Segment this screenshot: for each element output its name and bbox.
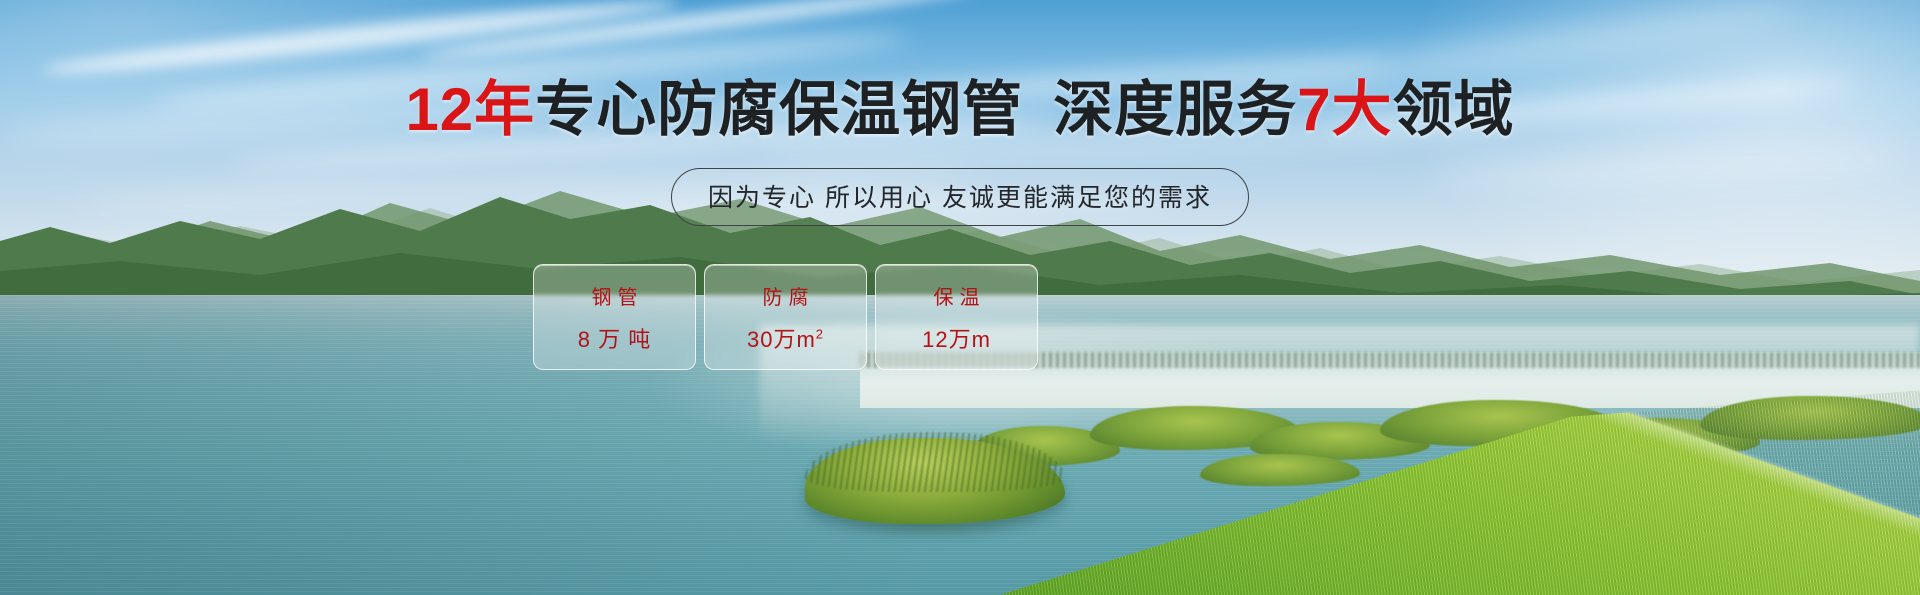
stat-card-value-text: 30万m: [747, 327, 816, 352]
stat-card-value: 30万m2: [747, 322, 824, 354]
stat-card-value-superscript: 2: [816, 326, 824, 341]
page-title: 12年专心防腐保温钢管深度服务7大领域: [0, 80, 1920, 140]
subtitle-pill: 因为专心 所以用心 友诚更能满足您的需求: [671, 168, 1249, 226]
stat-card-title: 保温: [928, 281, 986, 310]
stat-card-title: 防腐: [757, 281, 815, 310]
headline-main: 专心防腐保温钢管: [535, 76, 1023, 143]
headline-fields: 领域: [1393, 76, 1515, 143]
headline-seven: 7大: [1297, 76, 1392, 143]
stat-card-anticorrosion[interactable]: 防腐 30万m2: [704, 264, 867, 370]
headline-years: 12年: [405, 76, 535, 143]
stat-card-value: 12万m: [922, 322, 991, 354]
stat-card-value-text: 12万m: [922, 327, 991, 352]
stat-card-title: 钢管: [586, 281, 644, 310]
stat-card-value-text: 8 万 吨: [578, 327, 651, 352]
stat-card-insulation[interactable]: 保温 12万m: [875, 264, 1038, 370]
headline-service: 深度服务: [1053, 76, 1297, 143]
stat-card-steel-pipe[interactable]: 钢管 8 万 吨: [533, 264, 696, 370]
stat-card-value: 8 万 吨: [578, 322, 651, 354]
stat-cards: 钢管 8 万 吨 防腐 30万m2 保温 12万m: [533, 264, 1038, 370]
subtitle-container: 因为专心 所以用心 友诚更能满足您的需求: [0, 168, 1920, 226]
hero-banner: 12年专心防腐保温钢管深度服务7大领域 因为专心 所以用心 友诚更能满足您的需求…: [0, 0, 1920, 595]
